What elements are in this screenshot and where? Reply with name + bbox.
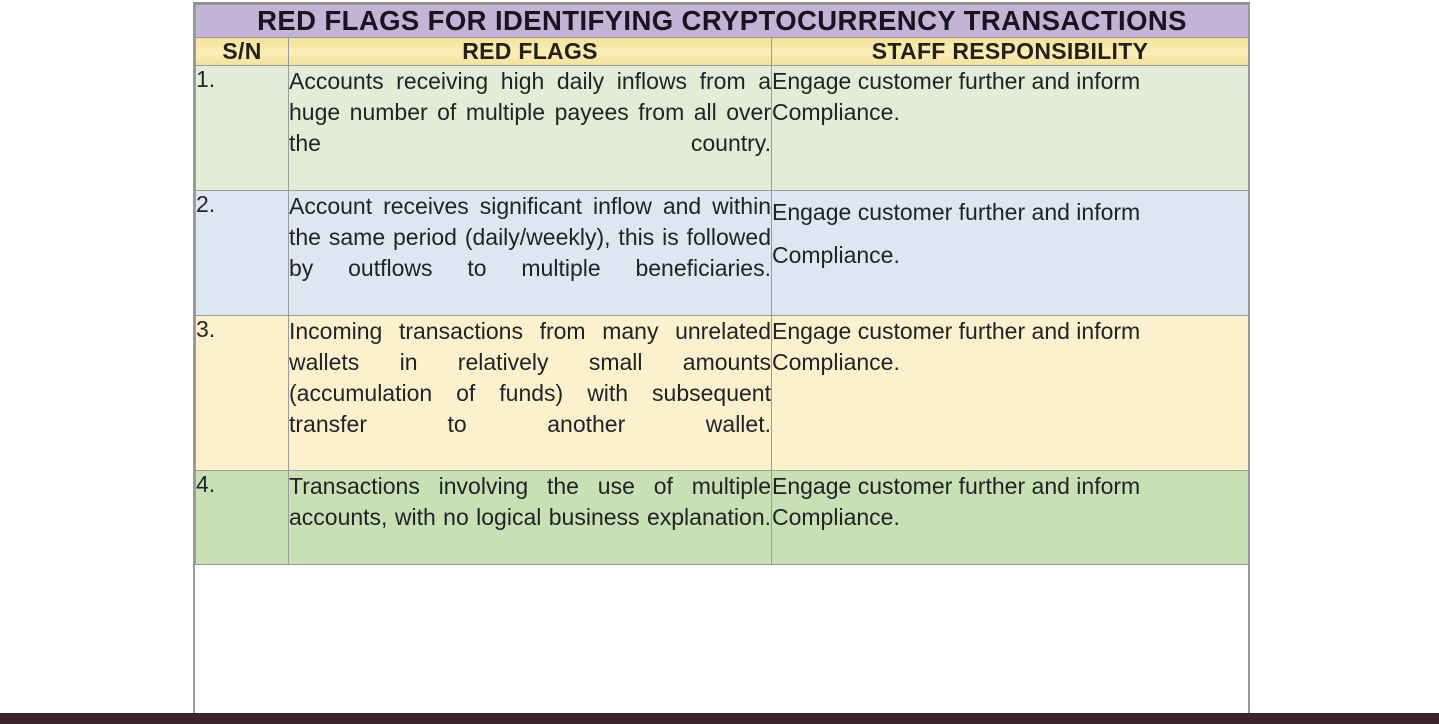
column-header-staff-responsibility: STAFF RESPONSIBILITY [772,38,1249,66]
row-serial-number: 3. [196,315,289,471]
row-staff-responsibility-text: Engage customer further and inform Compl… [772,66,1249,191]
row-serial-number: 4. [196,471,289,565]
table-row: 2. Account receives significant inflow a… [196,191,1249,316]
table-title-row: RED FLAGS FOR IDENTIFYING CRYPTOCURRENCY… [196,5,1249,38]
row-red-flag-text: Account receives significant inflow and … [289,191,772,316]
row-red-flag-text: Accounts receiving high daily inflows fr… [289,66,772,191]
red-flags-table-container: RED FLAGS FOR IDENTIFYING CRYPTOCURRENCY… [193,2,1250,713]
page-title: RED FLAGS FOR IDENTIFYING CRYPTOCURRENCY… [196,5,1248,37]
table-header-row: S/N RED FLAGS STAFF RESPONSIBILITY [196,38,1249,66]
table-row: 4. Transactions involving the use of mul… [196,471,1249,565]
column-header-red-flags: RED FLAGS [289,38,772,66]
row-serial-number: 2. [196,191,289,316]
row-red-flag-text: Transactions involving the use of multip… [289,471,772,565]
table-row: 3. Incoming transactions from many unrel… [196,315,1249,471]
row-staff-responsibility-text: Engage customer further and inform Compl… [772,471,1249,565]
table-row: 1. Accounts receiving high daily inflows… [196,66,1249,191]
row-staff-responsibility-text: Engage customer further and inform Compl… [772,315,1249,471]
red-flags-table: RED FLAGS FOR IDENTIFYING CRYPTOCURRENCY… [195,4,1249,565]
column-header-sn: S/N [196,38,289,66]
row-red-flag-text: Incoming transactions from many unrelate… [289,315,772,471]
table-title-cell: RED FLAGS FOR IDENTIFYING CRYPTOCURRENCY… [196,5,1249,38]
row-serial-number: 1. [196,66,289,191]
row-staff-responsibility-text: Engage customer further and inform Compl… [772,191,1249,316]
document-page: RED FLAGS FOR IDENTIFYING CRYPTOCURRENCY… [0,0,1439,724]
bottom-bar [0,713,1439,724]
